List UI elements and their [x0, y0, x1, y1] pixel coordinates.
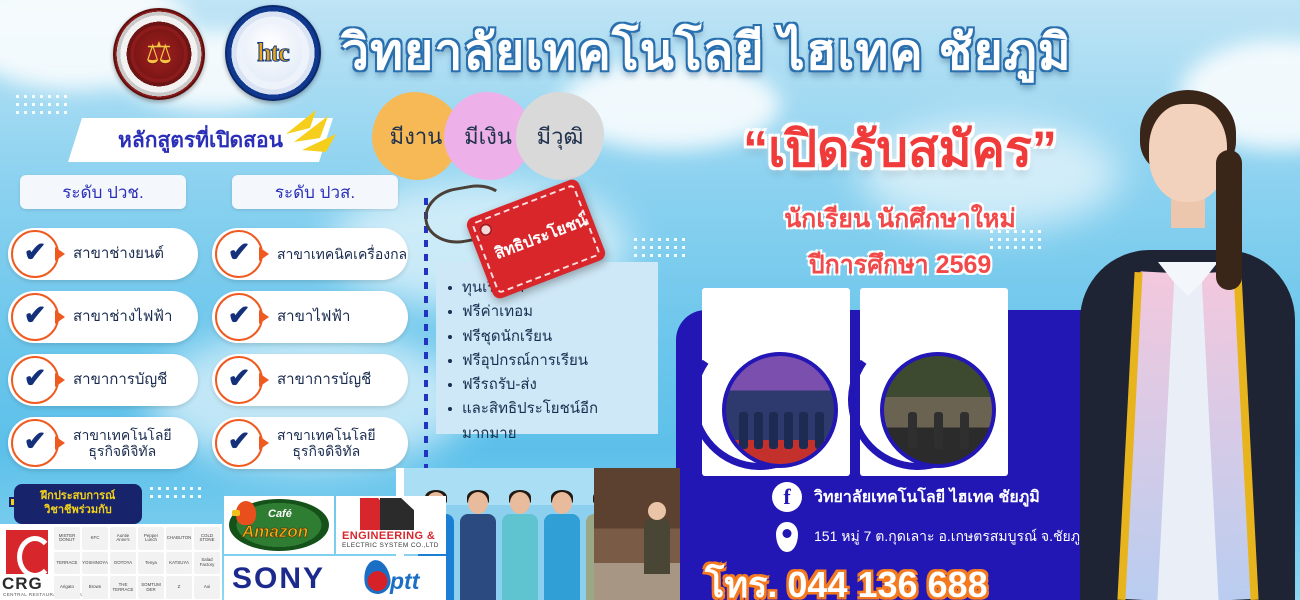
benefit-item: และสิทธิประโยชน์อีกมากมาย	[462, 397, 648, 446]
announcement-headline: “เปิดรับสมัคร”	[705, 110, 1095, 189]
course-label: สาขาเทคโนโลยี ธุรกิจดิจิทัล	[277, 427, 376, 459]
htc-logo-text: htc	[257, 38, 289, 68]
benefit-item: ฟรีรถรับ-ส่ง	[462, 373, 648, 397]
dashed-divider	[424, 198, 428, 488]
level-header-pvs: ระดับ ปวส.	[232, 175, 398, 209]
facebook-page-name: วิทยาลัยเทคโนโลยี ไฮเทค ชัยภูมิ	[814, 485, 1040, 510]
benefits-list: ทุนเรียนดี ฟรีค่าเทอม ฟรีชุดนักเรียน ฟรี…	[436, 262, 658, 446]
check-icon: ✔	[215, 356, 263, 404]
d-engineering-logo: ENGINEERING & ELECTRIC SYSTEM CO.,LTD	[336, 496, 446, 554]
crg-mark-icon	[6, 530, 48, 574]
course-label: สาขาการบัญชี	[73, 371, 167, 388]
brand-logo: COLD STONE	[194, 527, 220, 550]
course-label: สาขาการบัญชี	[277, 371, 371, 388]
dot-grid-decoration	[16, 95, 67, 114]
course-label: สาขาช่างยนต์	[73, 245, 164, 262]
check-icon: ✔	[11, 356, 59, 404]
brand-logo: THE TERRACE	[110, 576, 136, 599]
tag-hole	[477, 221, 494, 238]
course-label: สาขาเทคโนโลยี ธุรกิจดิจิทัล	[73, 427, 172, 459]
cafe-amazon-top: Café	[268, 508, 292, 520]
brand-logo: OOTOYA	[110, 552, 136, 575]
announcement-year: ปีการศึกษา 2569	[705, 245, 1095, 285]
ptt-flame-icon	[362, 558, 392, 595]
check-icon: ✔	[215, 293, 263, 341]
course-label: สาขาไฟฟ้า	[277, 308, 350, 325]
sparkle-icon	[280, 108, 340, 164]
brand-logo: CHABUTON	[166, 527, 192, 550]
phone-number[interactable]: โทร. 044 136 688	[705, 556, 988, 600]
benefits-box: ทุนเรียนดี ฟรีค่าเทอม ฟรีชุดนักเรียน ฟรี…	[436, 262, 658, 434]
course-item: ✔ สาขาเทคนิคเครื่องกล	[212, 228, 408, 280]
course-label: สาขาช่างไฟฟ้า	[73, 308, 172, 325]
crg-logo-text: CRG	[2, 574, 43, 594]
htc-college-seal: htc	[225, 5, 321, 101]
sony-ptt-logo-block: SONY ptt	[224, 556, 446, 600]
brand-logo: Arigato	[54, 576, 80, 599]
facebook-contact[interactable]: f วิทยาลัยเทคโนโลยี ไฮเทค ชัยภูมิ	[772, 482, 1040, 512]
brand-logo: Salad Factory	[194, 552, 220, 575]
crg-brand-grid: MISTER DONUT KFC Auntie Anne's Pepper Lu…	[54, 527, 220, 599]
course-item: ✔ สาขาไฟฟ้า	[212, 291, 408, 343]
brand-logo: Brown	[82, 576, 108, 599]
students-award-photo	[722, 352, 838, 468]
check-icon: ✔	[215, 230, 263, 278]
check-icon: ✔	[11, 230, 59, 278]
brand-logo: Pepper Lunch	[138, 527, 164, 550]
facebook-icon: f	[772, 482, 802, 512]
brand-logo: Tenya	[138, 552, 164, 575]
d-engineering-line2: ELECTRIC SYSTEM CO.,LTD	[342, 542, 439, 549]
brand-logo: SOMTUM DER	[138, 576, 164, 599]
check-icon: ✔	[11, 293, 59, 341]
course-label: สาขาเทคนิคเครื่องกล	[277, 246, 407, 262]
course-item: ✔ สาขาการบัญชี	[212, 354, 408, 406]
college-title: วิทยาลัยเทคโนโลยี ไฮเทค ชัยภูมิ	[341, 13, 1072, 92]
course-item: ✔ สาขาเทคโนโลยี ธุรกิจดิจิทัล	[212, 417, 408, 469]
internship-label: ฝึกประสบการณ์ วิชาชีพร่วมกับ	[14, 484, 142, 524]
level-header-pvc: ระดับ ปวช.	[20, 175, 186, 209]
promotional-banner: ⚖ htc วิทยาลัยเทคโนโลยี ไฮเทค ชัยภูมิ มี…	[0, 0, 1300, 600]
courses-ribbon-label: หลักสูตรที่เปิดสอน	[118, 124, 283, 157]
course-item: ✔ สาขาการบัญชี	[8, 354, 198, 406]
cafe-amazon-logo: Café Amazon	[224, 496, 334, 554]
benefit-item: ฟรีอุปกรณ์การเรียน	[462, 349, 648, 373]
dot-grid-decoration	[150, 487, 201, 498]
announcement-subline: นักเรียน นักศึกษาใหม่	[705, 199, 1095, 239]
benefit-item: ฟรีค่าเทอม	[462, 300, 648, 324]
brand-logo: Z	[166, 576, 192, 599]
check-icon: ✔	[11, 419, 59, 467]
internship-label-line1: ฝึกประสบการณ์	[41, 490, 116, 504]
brand-logo: TERRACE	[54, 552, 80, 575]
emblem-glyph: ⚖	[146, 39, 173, 69]
brand-logo: Auntie Anne's	[110, 527, 136, 550]
brand-logo: KFC	[82, 527, 108, 550]
map-pin-icon	[772, 522, 802, 552]
sony-logo-text: SONY	[232, 562, 325, 596]
course-item: ✔ สาขาช่างไฟฟ้า	[8, 291, 198, 343]
value-badges: มีงาน มีเงิน มีวุฒิ	[372, 92, 588, 180]
brand-logo: Aoi	[194, 576, 220, 599]
course-item: ✔ สาขาเทคโนโลยี ธุรกิจดิจิทัล	[8, 417, 198, 469]
vocational-education-commission-seal: ⚖	[113, 8, 205, 100]
announcement-block: “เปิดรับสมัคร” นักเรียน นักศึกษาใหม่ ปีก…	[705, 110, 1095, 285]
brand-logo: YOSHINOYA	[82, 552, 108, 575]
brand-logo: KATSUYA	[166, 552, 192, 575]
graduate-student-portrait	[1070, 0, 1300, 600]
dot-grid-decoration	[634, 238, 685, 257]
students-cafe-photo	[880, 352, 996, 468]
crg-logo-block: CRG CENTRAL RESTAURANTS GROUP MISTER DON…	[0, 524, 222, 600]
internship-label-line2: วิชาชีพร่วมกับ	[44, 504, 112, 518]
check-icon: ✔	[215, 419, 263, 467]
brand-logo: MISTER DONUT	[54, 527, 80, 550]
benefit-item: ฟรีชุดนักเรียน	[462, 325, 648, 349]
badge-mee-wut: มีวุฒิ	[516, 92, 604, 180]
cafe-amazon-main: Amazon	[242, 522, 308, 542]
d-engineering-line1: ENGINEERING &	[342, 530, 435, 542]
ptt-logo-text: ptt	[390, 568, 419, 595]
d-mark-icon	[360, 498, 416, 530]
course-item: ✔ สาขาช่างยนต์	[8, 228, 198, 280]
